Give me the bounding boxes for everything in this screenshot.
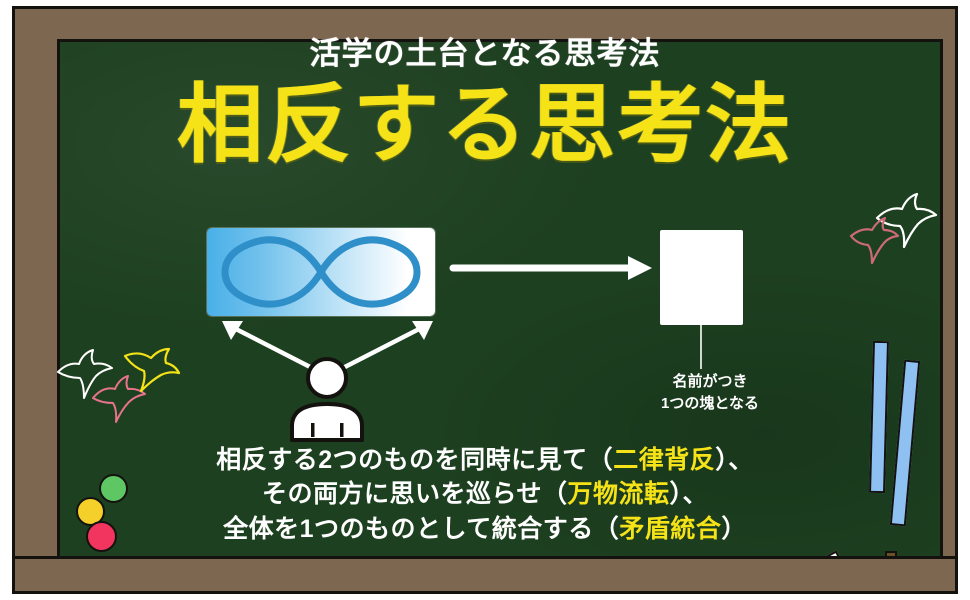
infinity-symbol-icon [207,228,435,316]
subtitle: 活学の土台となる思考法 [0,28,970,73]
dot-green [99,474,128,503]
summary-line-1-part-a: 相反する2つのものを同時に見て（ [216,446,613,474]
summary-line-3: 全体を1つのものとして統合する（矛盾統合） [0,512,970,546]
infinity-symbol-box [207,228,435,316]
highlight-term-3: 矛盾統合 [619,515,721,543]
dot-pink [86,521,117,552]
summary-line-3-part-b: ） [721,515,747,543]
highlight-term-2: 万物流転 [567,480,669,508]
caption-line-1: 名前がつき [610,371,810,393]
box-caption-connector-line [700,325,702,369]
white-box [660,230,743,325]
summary-line-2-part-b: ）、 [670,480,709,508]
summary-line-2: その両方に思いを巡らせ（万物流転）、 [0,477,970,511]
page-title: 相反する思考法 [0,82,970,168]
summary-line-1: 相反する2つのものを同時に見て（二律背反）、 [0,443,970,477]
summary-line-2-part-a: その両方に思いを巡らせ（ [262,480,568,508]
box-caption: 名前がつき 1つの塊となる [610,371,810,415]
chalk-tray [12,556,958,594]
caption-line-2: 1つの塊となる [610,393,810,415]
highlight-term-1: 二律背反 [613,446,715,474]
summary-line-1-part-b: ）、 [715,446,754,474]
summary-line-3-part-a: 全体を1つのものとして統合する（ [223,515,619,543]
summary-text: 相反する2つのものを同時に見て（二律背反）、 その両方に思いを巡らせ（万物流転）… [0,443,970,546]
chalkboard-infographic: 名前がつき 1つの塊となる 活学の土台となる思考法 相反する思考法 相反する2つ… [0,0,970,600]
